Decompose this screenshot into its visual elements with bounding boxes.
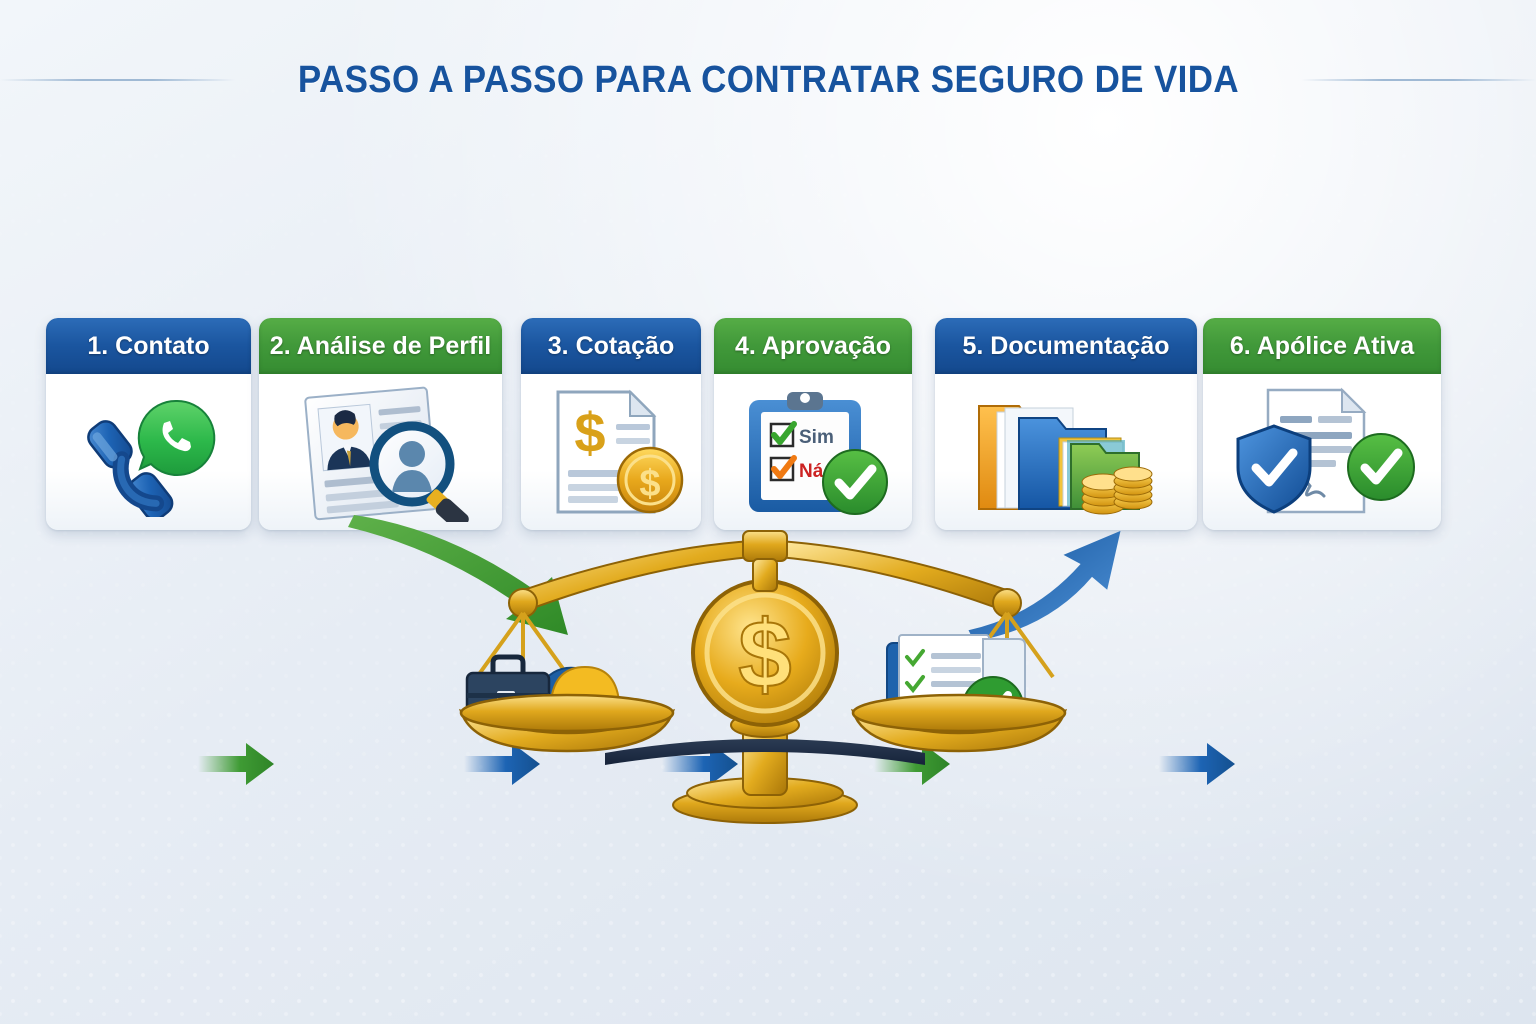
center-dollar-coin: $	[693, 581, 837, 725]
step-card-apolice-ativa[interactable]: 6. Apólice Ativa	[1203, 318, 1441, 530]
coin-dollar-symbol: $	[738, 601, 791, 708]
step-card-body	[1203, 374, 1441, 530]
arrow-1-to-2	[196, 736, 276, 792]
step-card-header: 4. Aprovação	[714, 318, 912, 374]
title-rule-right	[1301, 79, 1536, 81]
approval-clipboard-icon: Sim Ná	[733, 382, 893, 522]
step-card-contato[interactable]: 1. Contato	[46, 318, 251, 530]
quote-document-coin-icon: $ $	[536, 382, 686, 522]
balance-scale-graphic: $	[455, 525, 1075, 825]
step-card-title: 6. Apólice Ativa	[1220, 332, 1424, 361]
profile-document-magnifier-icon	[286, 382, 476, 522]
step-card-title: 3. Cotação	[538, 332, 684, 361]
step-card-title: 2. Análise de Perfil	[260, 332, 501, 361]
step-card-documentacao[interactable]: 5. Documentação	[935, 318, 1197, 530]
step-card-body	[935, 374, 1197, 530]
step-card-aprovacao[interactable]: 4. Aprovação	[714, 318, 912, 530]
green-check-badge-icon	[1348, 434, 1414, 500]
svg-text:$: $	[639, 463, 660, 505]
page-title: PASSO A PASSO PARA CONTRATAR SEGURO DE V…	[297, 59, 1238, 102]
infographic-canvas: PASSO A PASSO PARA CONTRATAR SEGURO DE V…	[0, 0, 1536, 1024]
title-rule-left	[0, 79, 235, 81]
folders-coins-icon	[959, 382, 1174, 522]
clipboard-option-nao: Ná	[799, 461, 824, 482]
title-row: PASSO A PASSO PARA CONTRATAR SEGURO DE V…	[0, 52, 1536, 108]
step-card-title: 5. Documentação	[952, 332, 1179, 361]
step-card-body	[46, 374, 251, 530]
step-card-header: 2. Análise de Perfil	[259, 318, 502, 374]
step-card-cotacao[interactable]: 3. Cotação $	[521, 318, 701, 530]
clipboard-option-sim: Sim	[799, 427, 834, 448]
step-card-header: 3. Cotação	[521, 318, 701, 374]
phone-whatsapp-icon	[74, 387, 224, 517]
step-card-header: 5. Documentação	[935, 318, 1197, 374]
arrow-5-to-6	[1157, 736, 1237, 792]
step-card-title: 4. Aprovação	[725, 332, 901, 361]
step-card-header: 6. Apólice Ativa	[1203, 318, 1441, 374]
step-card-header: 1. Contato	[46, 318, 251, 374]
step-card-body	[259, 374, 502, 530]
step-card-body: $ $	[521, 374, 701, 530]
step-card-body: Sim Ná	[714, 374, 912, 530]
policy-shield-icon	[1222, 382, 1422, 522]
steps-row: 1. Contato	[0, 318, 1536, 538]
step-card-analise-de-perfil[interactable]: 2. Análise de Perfil	[259, 318, 502, 530]
step-card-title: 1. Contato	[77, 332, 219, 361]
svg-text:$: $	[574, 401, 605, 464]
